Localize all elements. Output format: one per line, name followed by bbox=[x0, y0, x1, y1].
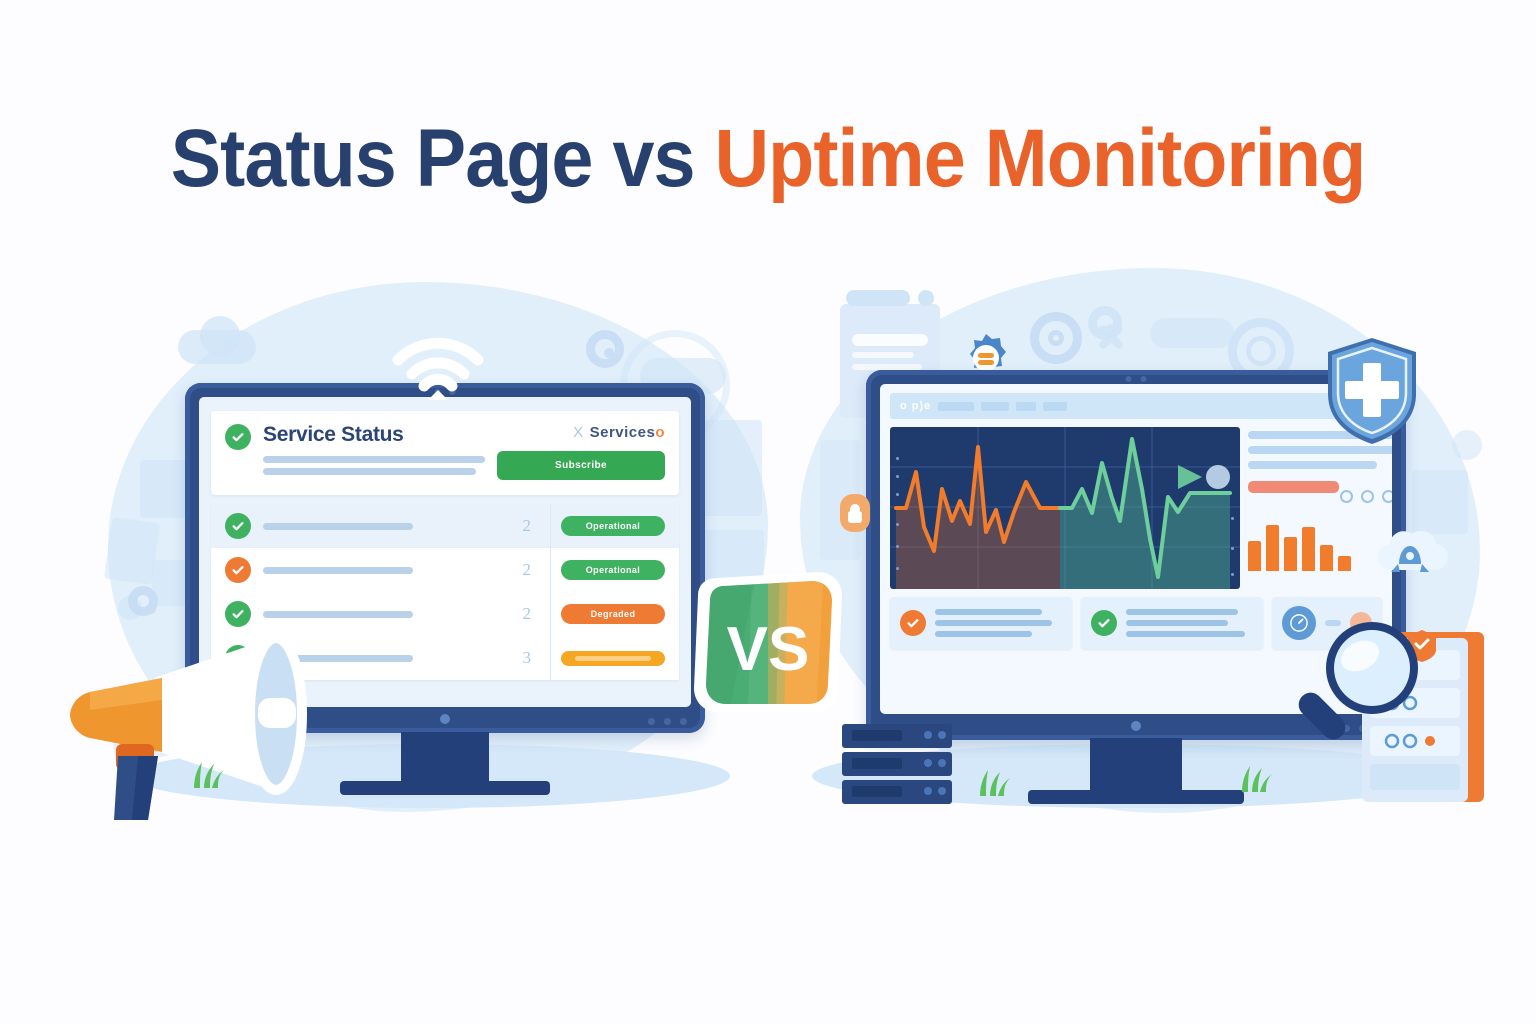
dashboard-body bbox=[880, 419, 1392, 589]
list-item[interactable] bbox=[1081, 597, 1263, 649]
topbar-segment bbox=[938, 402, 974, 411]
row-number: 3 bbox=[425, 648, 549, 668]
cloud-icon bbox=[200, 316, 240, 356]
lock-icon bbox=[838, 490, 872, 536]
cell-divider bbox=[550, 504, 551, 548]
magnifying-glass-icon bbox=[1288, 612, 1428, 762]
axis-tick bbox=[1231, 573, 1234, 576]
axis-tick bbox=[896, 493, 899, 496]
brand-name: Services bbox=[590, 424, 656, 441]
monitor-stand-base bbox=[340, 781, 550, 795]
list-item[interactable] bbox=[890, 597, 1072, 649]
axis-tick bbox=[896, 457, 899, 460]
service-name-bar bbox=[263, 567, 413, 574]
bar bbox=[1320, 545, 1333, 571]
cell-divider bbox=[550, 636, 551, 680]
placeholder-bar bbox=[1126, 609, 1238, 615]
check-circle-green-icon bbox=[225, 424, 251, 450]
axis-tick bbox=[1231, 517, 1234, 520]
monitor-stand-neck bbox=[401, 732, 489, 784]
bar bbox=[1248, 541, 1261, 571]
grass-icon bbox=[974, 768, 1014, 801]
axis-tick bbox=[896, 475, 899, 478]
page-title-navy: Status Page vs bbox=[171, 113, 695, 204]
subscribe-button[interactable]: Subscribe bbox=[497, 451, 665, 480]
bar bbox=[1302, 527, 1315, 571]
close-icon bbox=[1098, 322, 1124, 352]
page-title: Status Page vs Uptime Monitoring bbox=[0, 118, 1536, 200]
grass-icon bbox=[188, 760, 228, 793]
bar bbox=[1284, 537, 1297, 571]
table-row[interactable]: 2 Operational bbox=[211, 504, 679, 548]
placeholder-bar bbox=[263, 468, 476, 475]
check-circle-orange-icon bbox=[225, 557, 251, 583]
cloud-icon bbox=[1150, 318, 1234, 348]
server-rack-icon bbox=[836, 722, 966, 808]
vs-badge: VS bbox=[688, 566, 848, 718]
row-number: 2 bbox=[425, 560, 549, 580]
wifi-icon bbox=[390, 334, 486, 402]
ring-indicator bbox=[1340, 490, 1353, 503]
dashboard-topbar: o p)e bbox=[890, 393, 1382, 419]
alert-bar bbox=[1248, 481, 1339, 493]
status-badge: Degraded bbox=[561, 604, 665, 624]
service-name-bar bbox=[263, 611, 413, 618]
check-circle-orange-icon bbox=[900, 610, 926, 636]
status-rings bbox=[1340, 490, 1392, 503]
row-number: 2 bbox=[425, 516, 549, 536]
dashboard-topbar-label: o p)e bbox=[900, 400, 931, 412]
row-number: 2 bbox=[425, 604, 549, 624]
illustration-canvas: Status Page vs Uptime Monitoring bbox=[0, 0, 1536, 1024]
placeholder-bar bbox=[1248, 446, 1392, 454]
topbar-segment bbox=[981, 402, 1009, 411]
gear-icon bbox=[128, 586, 158, 616]
bg-dot bbox=[1452, 430, 1482, 460]
cell-divider bbox=[550, 548, 551, 592]
gear-icon bbox=[1030, 312, 1082, 364]
brand-logo: XServiceso bbox=[497, 424, 665, 441]
service-status-header: Service Status XServiceso Subscribe bbox=[211, 411, 679, 495]
placeholder-bar bbox=[263, 456, 485, 463]
placeholder-bar bbox=[935, 609, 1042, 615]
axis-tick bbox=[1231, 547, 1234, 550]
bar bbox=[1266, 525, 1279, 571]
bezel-dots bbox=[648, 718, 687, 725]
shield-cross-icon bbox=[1324, 336, 1420, 446]
service-name-bar bbox=[263, 523, 413, 530]
placeholder-bar bbox=[1248, 461, 1377, 469]
megaphone-icon bbox=[62, 624, 332, 824]
grass-icon bbox=[1236, 764, 1276, 797]
topbar-segment bbox=[1016, 402, 1036, 411]
page-title-orange: Uptime Monitoring bbox=[695, 113, 1366, 204]
axis-tick bbox=[896, 545, 899, 548]
rocket-cloud-icon bbox=[1368, 524, 1452, 600]
axis-tick bbox=[896, 567, 899, 570]
ring-indicator bbox=[1361, 490, 1374, 503]
brand-prefix: X bbox=[573, 424, 584, 441]
topbar-segment bbox=[1043, 402, 1067, 411]
response-time-chart[interactable] bbox=[890, 427, 1240, 589]
check-circle-green-icon bbox=[225, 513, 251, 539]
bar bbox=[1338, 556, 1351, 571]
placeholder-bar bbox=[935, 620, 1052, 626]
gear-icon bbox=[586, 330, 624, 368]
vs-badge-label: VS bbox=[727, 615, 810, 684]
chart-svg bbox=[890, 427, 1240, 589]
brand-suffix: o bbox=[655, 424, 665, 441]
placeholder-bar bbox=[935, 631, 1032, 637]
table-row[interactable]: 2 Operational bbox=[211, 548, 679, 592]
status-badge: Operational bbox=[561, 516, 665, 536]
status-badge: Operational bbox=[561, 560, 665, 580]
ring-indicator bbox=[1382, 490, 1392, 503]
monitor-stand-base bbox=[1028, 790, 1244, 804]
monitor-stand-neck bbox=[1090, 738, 1182, 794]
status-badge bbox=[561, 651, 665, 666]
camera-dots bbox=[1126, 376, 1147, 382]
cell-divider bbox=[550, 592, 551, 636]
service-status-title: Service Status bbox=[263, 424, 485, 445]
check-circle-green-icon bbox=[1091, 610, 1117, 636]
placeholder-bar bbox=[1126, 620, 1228, 626]
placeholder-bar bbox=[1126, 631, 1245, 637]
axis-tick bbox=[896, 523, 899, 526]
